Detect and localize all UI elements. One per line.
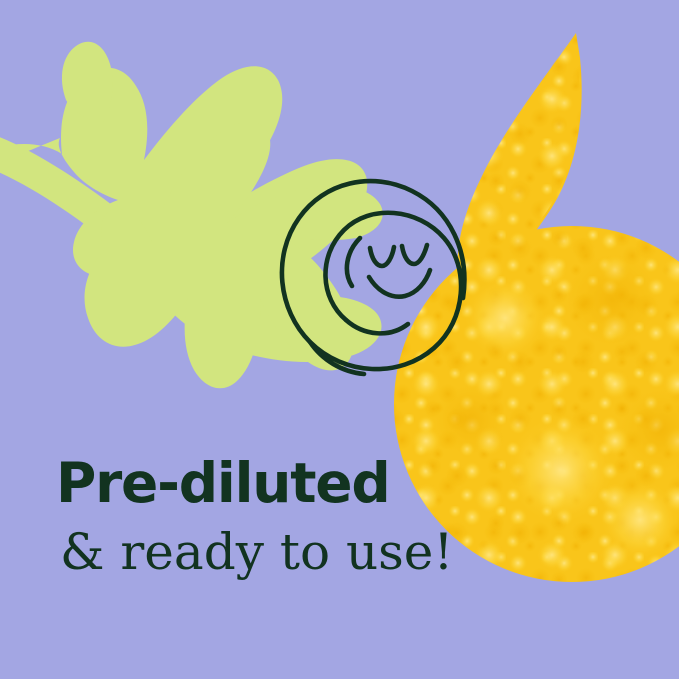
illustration-canvas <box>0 0 679 679</box>
product-banner: Pre-diluted & ready to use! <box>0 0 679 679</box>
